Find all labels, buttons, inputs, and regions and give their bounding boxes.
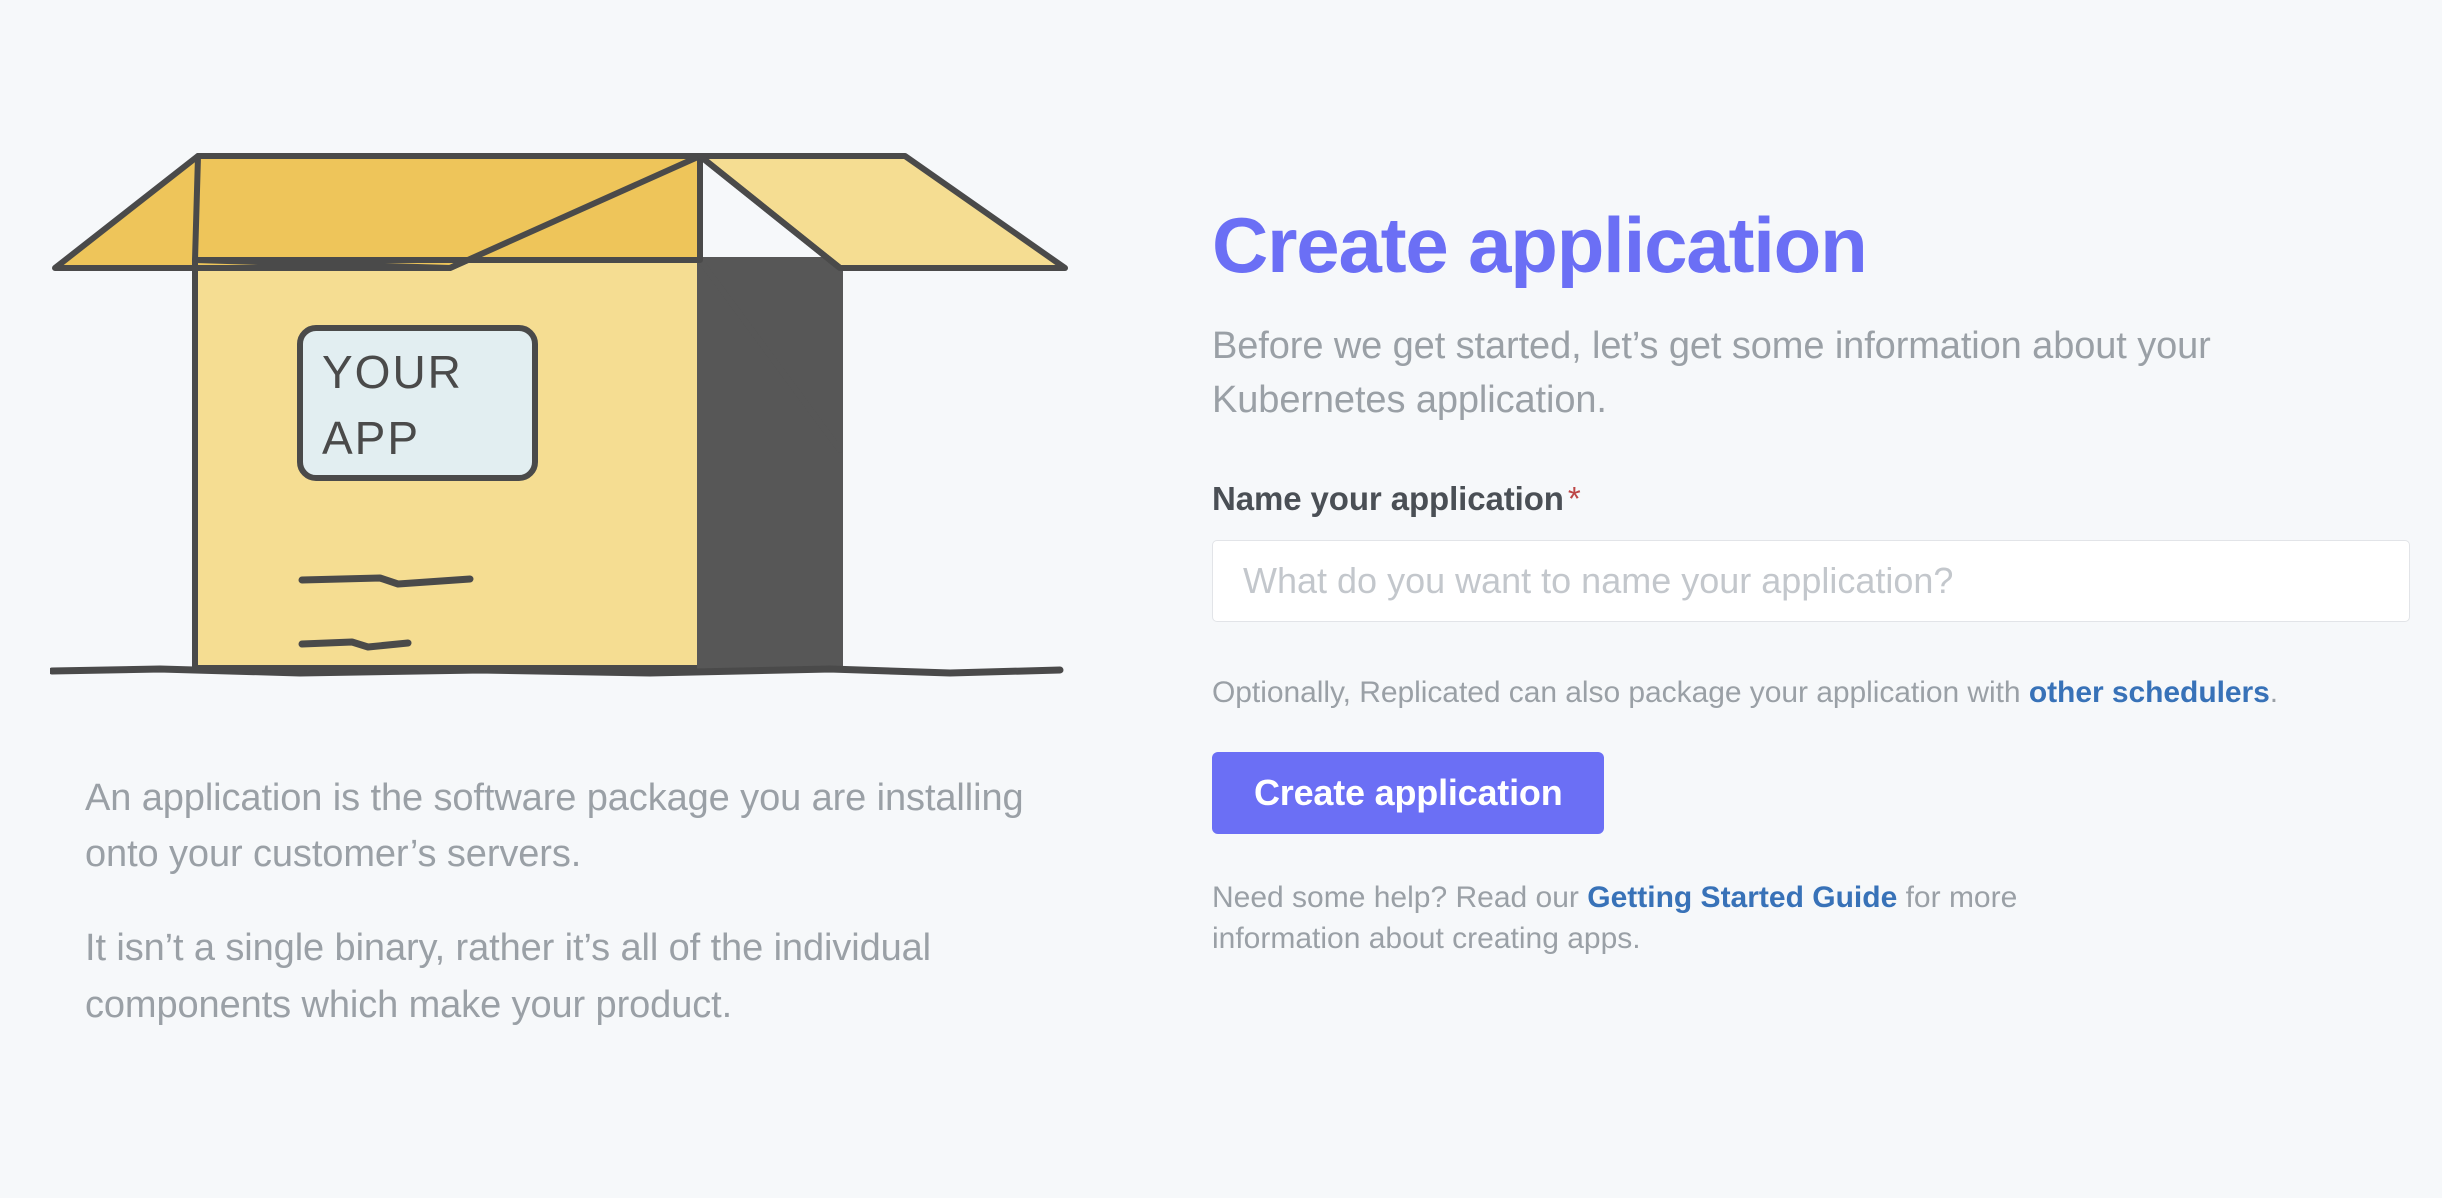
other-schedulers-link[interactable]: other schedulers (2029, 676, 2270, 709)
optional-note-prefix: Optionally, Replicated can also package … (1212, 676, 2029, 709)
optional-note-suffix: . (2270, 676, 2278, 709)
description-paragraph-1: An application is the software package y… (85, 770, 1065, 882)
optional-schedulers-note: Optionally, Replicated can also package … (1212, 676, 2412, 710)
ground-line (52, 669, 1060, 673)
cardboard-box-illustration: YOUR APP (50, 150, 1070, 740)
help-note: Need some help? Read our Getting Started… (1212, 878, 2112, 960)
application-name-field-block: Name your application* (1212, 480, 2412, 622)
create-application-button[interactable]: Create application (1212, 752, 1604, 834)
help-note-prefix: Need some help? Read our (1212, 881, 1587, 914)
box-flap-front (195, 156, 700, 260)
box-label-line-2: APP (322, 412, 420, 464)
illustration-container: YOUR APP (50, 150, 1070, 740)
create-application-form: Create application Before we get started… (1212, 206, 2412, 960)
application-name-label: Name your application (1212, 480, 1564, 517)
left-description: An application is the software package y… (85, 770, 1065, 1033)
create-application-page: YOUR APP An application is the software … (0, 0, 2442, 1198)
required-asterisk-icon: * (1568, 480, 1581, 517)
getting-started-guide-link[interactable]: Getting Started Guide (1587, 881, 1897, 914)
application-name-label-row: Name your application* (1212, 480, 2412, 518)
left-info-column: YOUR APP An application is the software … (50, 150, 1110, 740)
page-title: Create application (1212, 206, 2412, 284)
page-subtitle: Before we get started, let’s get some in… (1212, 320, 2362, 428)
box-flap-right (700, 156, 1065, 268)
application-name-input[interactable] (1212, 540, 2410, 622)
box-dash-line-2 (302, 642, 408, 647)
box-label-line-1: YOUR (322, 346, 463, 398)
description-paragraph-2: It isn’t a single binary, rather it’s al… (85, 920, 1065, 1032)
